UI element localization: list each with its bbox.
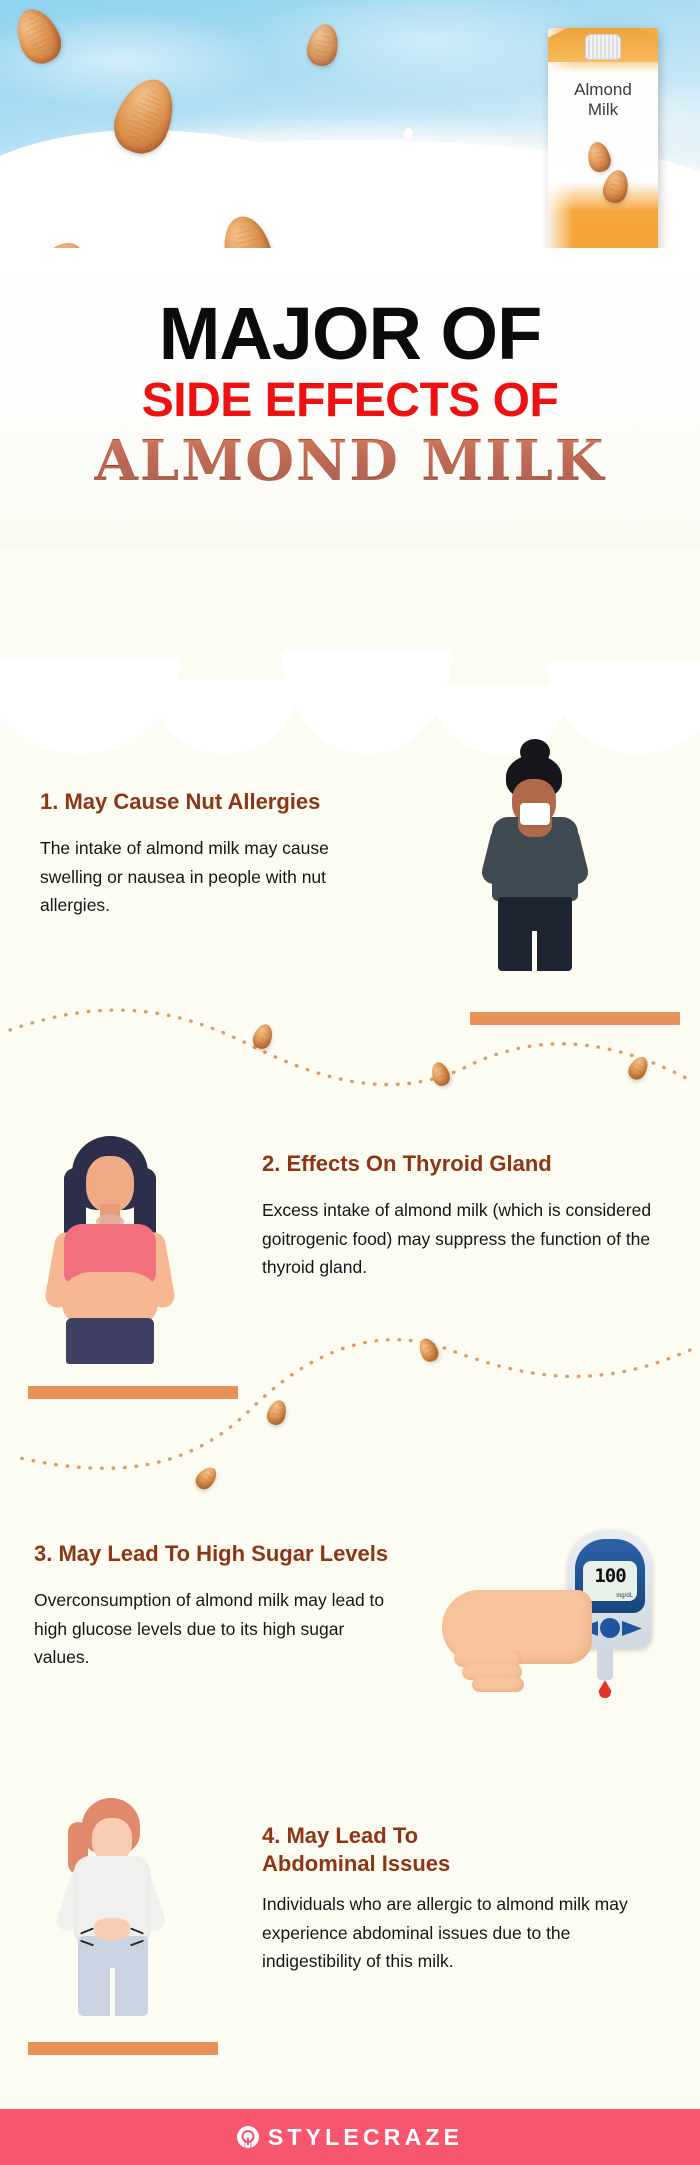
section-4-heading-line2: Abdominal Issues xyxy=(262,1850,682,1878)
glucose-unit: mg/dL xyxy=(616,1593,633,1599)
section-3-body: Overconsumption of almond milk may lead … xyxy=(34,1586,404,1671)
section-1-heading: 1. May Cause Nut Allergies xyxy=(40,788,440,816)
tissue-icon xyxy=(520,803,550,825)
glucose-reading: 100 xyxy=(583,1565,637,1587)
carton-cap xyxy=(585,34,621,60)
footer-brand-bar: STYLECRAZE xyxy=(0,2109,700,2165)
title-block: MAJOR OF SIDE EFFECTS OF ALMOND MILK xyxy=(0,248,700,548)
drip-blob xyxy=(150,680,300,754)
milk-drip-divider xyxy=(0,636,700,754)
carton-body: Almond Milk Fresh & natural xyxy=(548,28,658,276)
section-4: 4. May Lead To Abdominal Issues Individu… xyxy=(262,1822,682,1975)
figure-leg-gap xyxy=(110,1968,115,2018)
section-2-body: Excess intake of almond milk (which is c… xyxy=(262,1196,662,1281)
carton-almond-icon xyxy=(585,140,613,174)
section-2: 2. Effects On Thyroid Gland Excess intak… xyxy=(262,1150,682,1281)
section-3-heading: 3. May Lead To High Sugar Levels xyxy=(34,1540,504,1568)
stylecraze-logo-icon xyxy=(237,2126,259,2148)
section-2-heading: 2. Effects On Thyroid Gland xyxy=(262,1150,682,1178)
finger xyxy=(472,1677,524,1692)
milk-droplet xyxy=(322,150,335,166)
almond-milk-carton: Almond Milk Fresh & natural xyxy=(548,28,658,276)
decorative-almond xyxy=(625,1053,652,1082)
brand-name: STYLECRAZE xyxy=(268,2124,463,2151)
decorative-almond xyxy=(265,1398,290,1427)
title-line-side-effects: SIDE EFFECTS OF xyxy=(0,375,700,427)
section-4-body: Individuals who are allergic to almond m… xyxy=(262,1890,652,1975)
title-line-major: MAJOR OF xyxy=(0,298,700,369)
illustration-thyroid-woman xyxy=(48,1140,174,1370)
title-line-almond-milk: ALMOND MILK xyxy=(0,431,700,493)
milk-droplet xyxy=(404,128,413,139)
decorative-almond xyxy=(416,1336,442,1365)
blood-drop-icon xyxy=(599,1680,612,1698)
section-1-plinth xyxy=(470,1012,680,1025)
illustration-sneezing-woman xyxy=(480,755,600,975)
section-1-body: The intake of almond milk may cause swel… xyxy=(40,834,390,919)
decorative-almond xyxy=(429,1060,453,1088)
section-2-plinth xyxy=(28,1386,238,1399)
test-strip xyxy=(597,1646,613,1680)
glucometer-power-button[interactable] xyxy=(600,1618,620,1638)
decorative-almond xyxy=(192,1463,220,1492)
carton-artwork xyxy=(562,138,644,214)
figure-leg-gap xyxy=(532,931,537,973)
section-4-plinth xyxy=(28,2042,218,2055)
decorative-almond xyxy=(250,1022,275,1052)
drip-blob xyxy=(430,686,570,754)
drip-blob xyxy=(548,662,700,754)
section-4-heading-line1: 4. May Lead To xyxy=(262,1822,682,1850)
carton-almond-icon xyxy=(600,168,631,206)
figure-pants xyxy=(66,1318,154,1364)
glucometer-screen: 100 mg/dL xyxy=(583,1561,637,1601)
illustration-glucose-meter: 100 mg/dL xyxy=(520,1530,690,1730)
infographic-page: Almond Milk Fresh & natural MAJOR OF SID… xyxy=(0,0,700,2165)
glucometer-right-button[interactable] xyxy=(622,1621,642,1636)
drip-blob xyxy=(282,650,452,754)
section-3: 3. May Lead To High Sugar Levels Overcon… xyxy=(34,1540,504,1671)
pain-indicator-icon xyxy=(80,1926,144,1952)
drip-blob xyxy=(0,658,180,754)
carton-label-line1: Almond xyxy=(548,80,658,100)
illustration-abdominal-pain-woman xyxy=(60,1800,180,2026)
carton-label-line2: Milk xyxy=(548,100,658,120)
carton-label: Almond Milk xyxy=(548,80,658,119)
section-1: 1. May Cause Nut Allergies The intake of… xyxy=(40,788,440,919)
milk-droplet xyxy=(246,186,254,196)
